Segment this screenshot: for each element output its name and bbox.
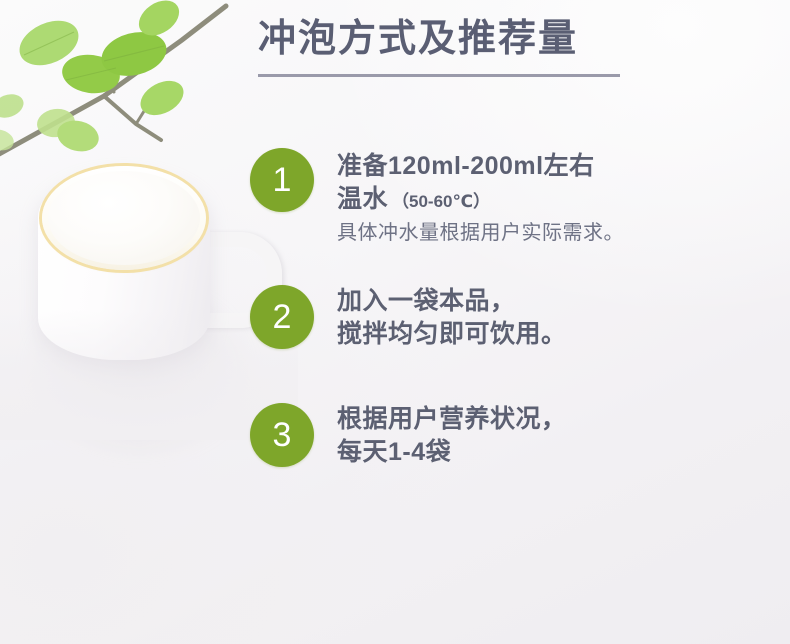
mug-body (38, 168, 210, 360)
instruction-panel: 冲泡方式及推荐量 1 准备120ml-200ml左右 温水（50-60℃） 具体… (0, 0, 790, 644)
steps-list: 1 准备120ml-200ml左右 温水（50-60℃） 具体冲水量根据用户实际… (250, 148, 770, 469)
step-heading-line2: 搅拌均匀即可饮用。 (337, 318, 567, 351)
step-content: 加入一袋本品， 搅拌均匀即可饮用。 (337, 285, 567, 351)
mug-milk-surface (48, 171, 200, 265)
milk-mug-graphic (18, 160, 268, 420)
header: 冲泡方式及推荐量 (258, 18, 678, 77)
step-heading-line2: 温水（50-60℃） (337, 183, 624, 216)
step-heading-line1: 加入一袋本品， (337, 285, 567, 318)
title-divider (258, 74, 620, 77)
page-title: 冲泡方式及推荐量 (258, 18, 678, 62)
step-number-badge: 2 (250, 285, 314, 349)
mug-rim (42, 166, 206, 270)
step-note: 具体冲水量根据用户实际需求。 (337, 220, 624, 247)
step-heading-line2-text: 温水 (337, 185, 388, 213)
step-number-badge: 3 (250, 403, 314, 467)
mug-shadow (24, 280, 254, 460)
water-temperature: （50-60℃） (392, 192, 490, 211)
step-item: 2 加入一袋本品， 搅拌均匀即可饮用。 (250, 285, 770, 351)
step-item: 1 准备120ml-200ml左右 温水（50-60℃） 具体冲水量根据用户实际… (250, 148, 770, 247)
step-content: 根据用户营养状况， 每天1-4袋 (337, 403, 567, 469)
step-number-badge: 1 (250, 148, 314, 212)
step-heading-line1: 准备120ml-200ml左右 (337, 150, 624, 183)
leaf-branch-graphic (0, 0, 236, 188)
step-content: 准备120ml-200ml左右 温水（50-60℃） 具体冲水量根据用户实际需求… (337, 148, 624, 247)
step-item: 3 根据用户营养状况， 每天1-4袋 (250, 403, 770, 469)
step-heading-line1: 根据用户营养状况， (337, 403, 567, 436)
step-heading-line2: 每天1-4袋 (337, 436, 567, 469)
